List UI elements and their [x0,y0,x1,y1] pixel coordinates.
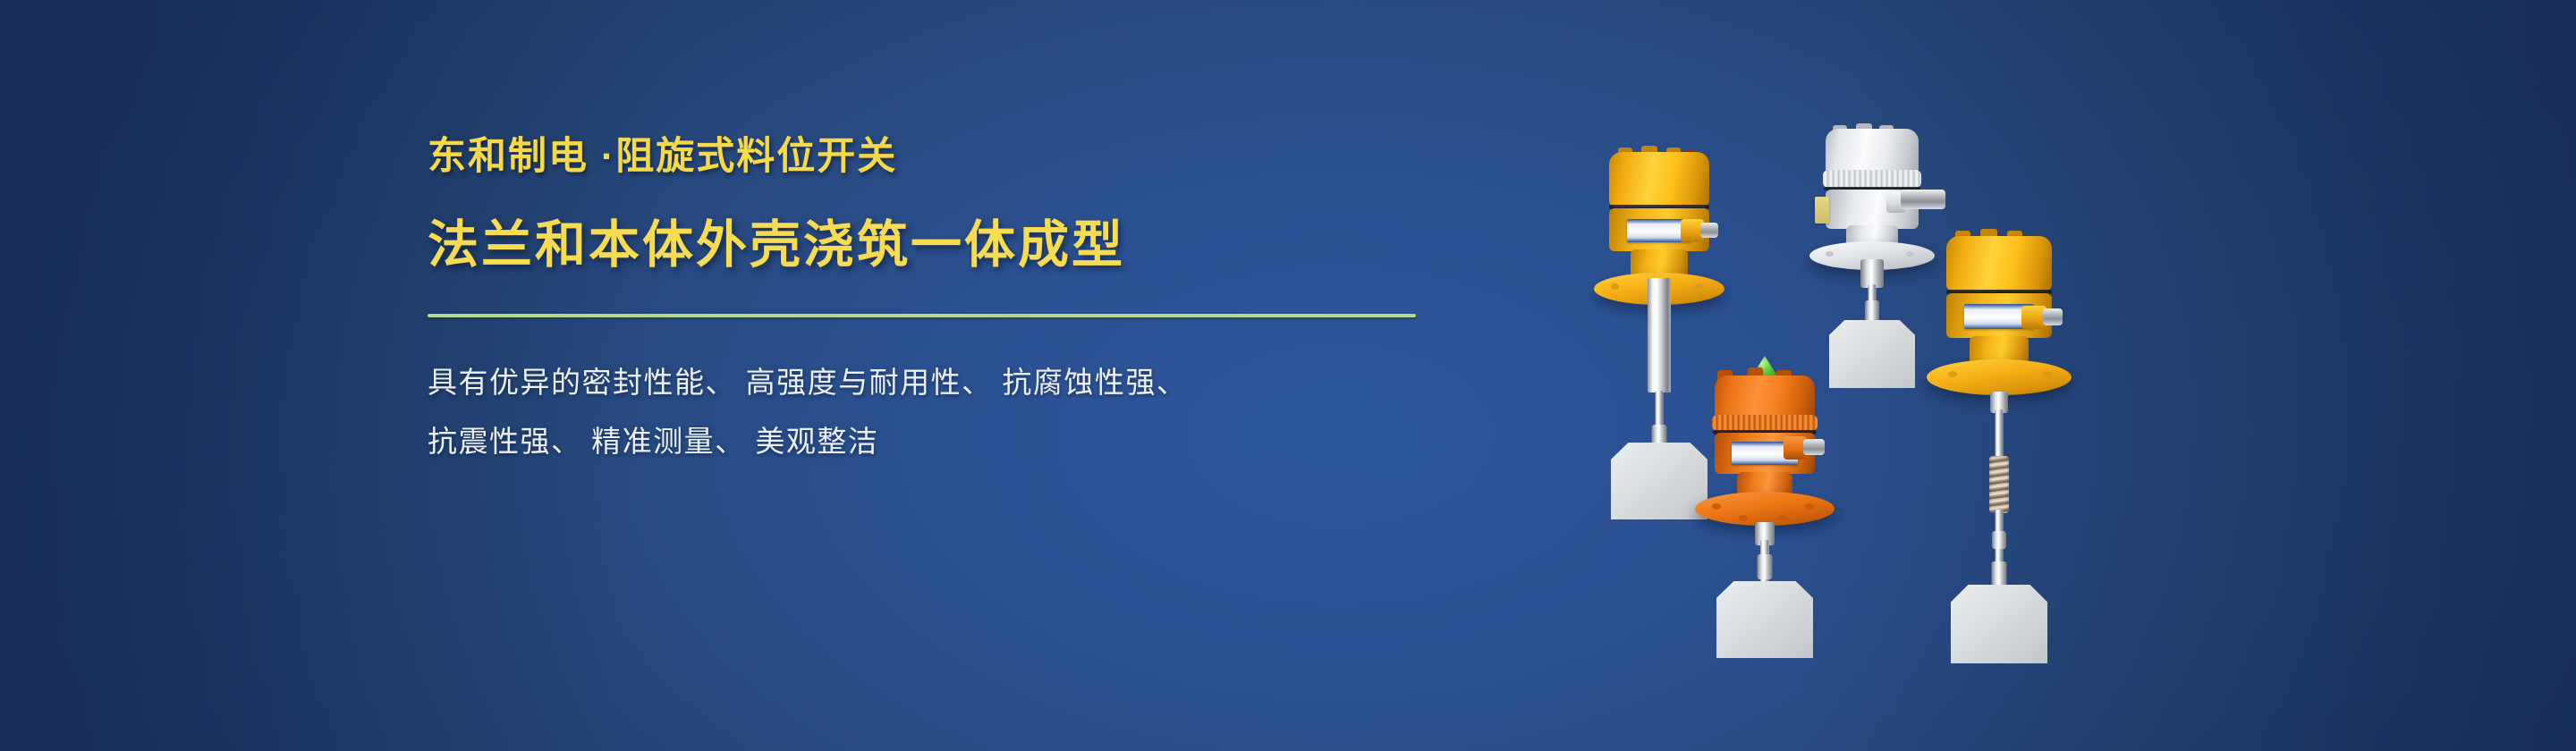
subtitle-line-2: 抗震性强、 精准测量、 美观整洁 [428,412,1481,471]
rigid-extension-tube [1648,278,1671,392]
flange-bolt-icon [1712,503,1721,510]
cable-clamp [1992,531,2006,549]
flange-bolt-icon [1739,515,1748,521]
cable-gland-icon [1901,190,1945,209]
banner-headline: 法兰和本体外壳浇筑一体成型 [428,215,1501,275]
mounting-flange [1927,359,2072,395]
promo-banner: 东和制电 ·阻旋式料位开关 法兰和本体外壳浇筑一体成型 具有优异的密封性能、 高… [0,0,2576,751]
housing-dome [1715,375,1815,420]
flange-bolt-icon [1695,283,1703,290]
flange-bolt-icon [1805,503,1814,510]
housing-cap [1826,129,1919,175]
banner-copy: 东和制电 ·阻旋式料位开关 法兰和本体外壳浇筑一体成型 具有优异的密封性能、 高… [428,134,1501,471]
flange-bolt-icon [1778,515,1787,521]
housing-dome [1826,129,1919,175]
paddle-coupler [1758,554,1773,579]
measuring-paddle [1829,320,1915,388]
subtitle-line-1: 具有优异的密封性能、 高强度与耐用性、 抗腐蚀性强、 [428,353,1481,412]
flange-bolt-icon [1611,283,1619,290]
banner-subtitle: 具有优异的密封性能、 高强度与耐用性、 抗腐蚀性强、 抗震性强、 精准测量、 美… [428,353,1501,471]
measuring-paddle [1951,585,2047,663]
housing-dome [1946,236,2052,291]
housing-dome [1609,152,1709,207]
divider-rule [428,314,1416,317]
cable-gland-icon [1700,223,1718,238]
housing-knurl-band [1712,415,1818,431]
product-nameplate [1815,197,1829,224]
housing-cap [1715,375,1815,420]
flange-bolt-icon [1906,251,1914,257]
flange-bolt-icon [2043,371,2052,377]
product-rotary-paddle-level-switch-orange [1689,356,1841,687]
banner-eyebrow: 东和制电 ·阻旋式料位开关 [428,134,1501,180]
measuring-paddle [1716,581,1813,658]
cable-gland-icon [1803,439,1825,455]
flange-bolt-icon [1948,371,1957,377]
housing-cap [1946,236,2052,291]
housing-cap [1609,152,1709,207]
spring-cable-section [1989,456,2009,513]
flange-bolt-icon [1826,251,1834,257]
housing-knurl-band [1823,170,1921,188]
product-rotary-paddle-level-switch-yellow-flexible [1923,231,2075,669]
cable-gland-icon [2043,308,2063,325]
